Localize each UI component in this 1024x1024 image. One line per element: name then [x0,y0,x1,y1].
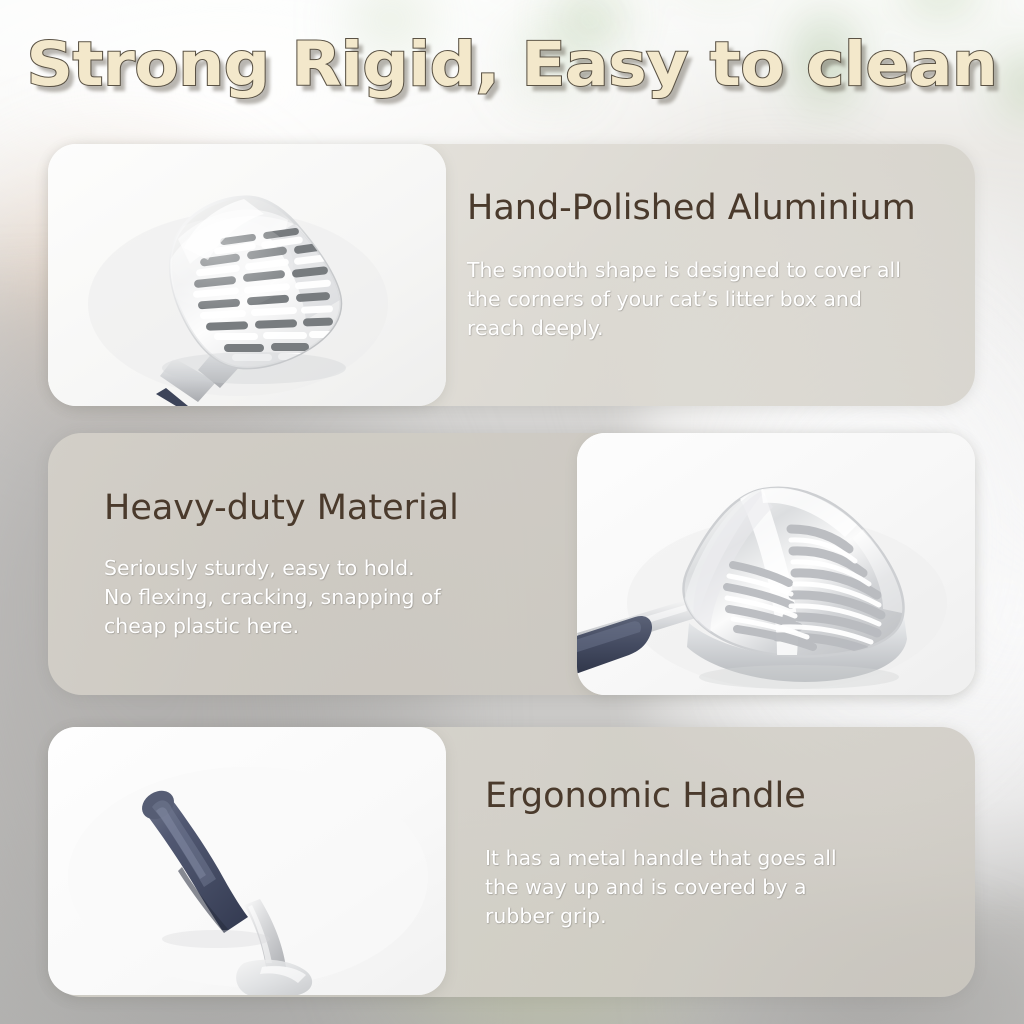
feature-body-line: the way up and is covered by a [485,873,945,902]
infographic-canvas: Strong Rigid, Easy to clean [0,0,1024,1024]
feature-title: Hand-Polished Aluminium [467,190,937,228]
feature-image-card-ergonomic-handle [48,727,446,995]
feature-title: Heavy-duty Material [104,490,574,528]
feature-text-ergonomic-handle: Ergonomic Handle It has a metal handle t… [485,778,945,931]
feature-body: It has a metal handle that goes all the … [485,844,945,931]
scoop-top-view-icon [48,144,446,406]
feature-text-heavy-duty-material: Heavy-duty Material Seriously sturdy, ea… [104,490,574,641]
feature-body-line: the corners of your cat’s litter box and [467,285,937,314]
feature-body: Seriously sturdy, easy to hold. No flexi… [104,554,574,641]
feature-body-line: Seriously sturdy, easy to hold. [104,554,574,583]
feature-body-line: The smooth shape is designed to cover al… [467,256,937,285]
feature-image-card-hand-polished-aluminium [48,144,446,406]
feature-body-line: cheap plastic here. [104,612,574,641]
handle-grip-icon [48,727,446,995]
feature-body-line: It has a metal handle that goes all [485,844,945,873]
page-title: Strong Rigid, Easy to clean [0,34,1024,95]
feature-body: The smooth shape is designed to cover al… [467,256,937,343]
feature-body-line: rubber grip. [485,902,945,931]
feature-body-line: No flexing, cracking, snapping of [104,583,574,612]
scoop-angled-view-icon [577,433,975,695]
feature-title: Ergonomic Handle [485,778,945,816]
feature-text-hand-polished-aluminium: Hand-Polished Aluminium The smooth shape… [467,190,937,343]
feature-body-line: reach deeply. [467,314,937,343]
feature-image-card-heavy-duty-material [577,433,975,695]
